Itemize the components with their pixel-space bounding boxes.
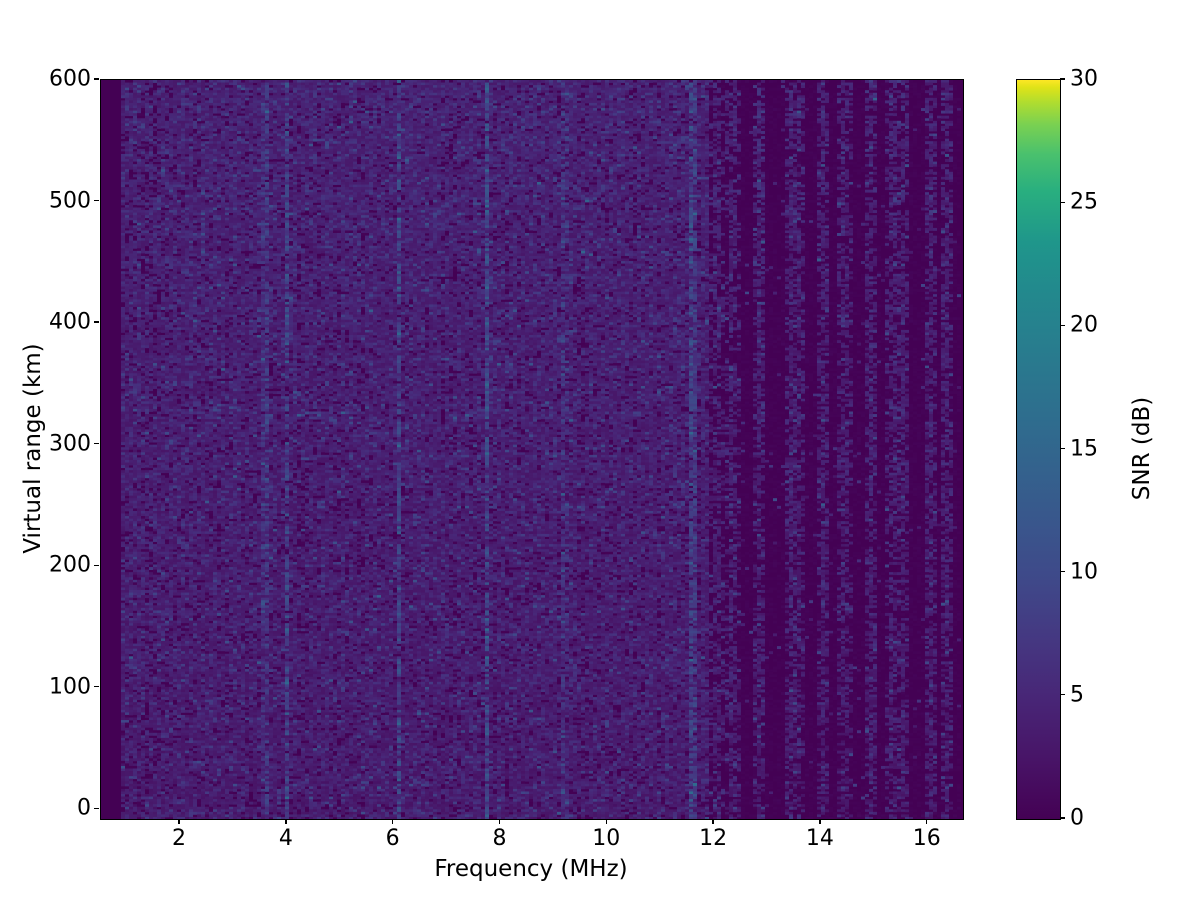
y-tick-mark [94, 808, 99, 809]
x-tick-mark [499, 819, 500, 824]
y-tick-mark [94, 565, 99, 566]
x-tick-label: 10 [592, 826, 620, 851]
x-tick-label: 8 [492, 826, 506, 851]
x-tick-mark [926, 819, 927, 824]
y-tick-label: 100 [49, 674, 91, 699]
colorbar-gradient [1017, 80, 1060, 819]
x-axis-label: Frequency (MHz) [100, 856, 962, 882]
colorbar-tick-mark [1060, 448, 1065, 449]
x-tick-label: 2 [172, 826, 186, 851]
y-tick-mark [94, 200, 99, 201]
y-tick-label: 500 [49, 188, 91, 213]
heatmap-plot-area [100, 79, 964, 820]
x-tick-label: 4 [279, 826, 293, 851]
colorbar-tick-label: 20 [1070, 313, 1098, 338]
x-tick-label: 14 [806, 826, 834, 851]
colorbar-tick-label: 10 [1070, 559, 1098, 584]
x-tick-label: 16 [913, 826, 941, 851]
colorbar-tick-mark [1060, 694, 1065, 695]
colorbar [1016, 79, 1061, 820]
y-tick-label: 0 [77, 796, 91, 821]
x-tick-label: 6 [386, 826, 400, 851]
colorbar-tick-label: 0 [1070, 806, 1084, 831]
y-tick-label: 600 [49, 67, 91, 92]
colorbar-tick-mark [1060, 817, 1065, 818]
y-tick-label: 400 [49, 310, 91, 335]
x-tick-mark [606, 819, 607, 824]
y-tick-label: 200 [49, 553, 91, 578]
y-axis-label: Virtual range (km) [18, 79, 48, 818]
y-tick-mark [94, 78, 99, 79]
y-tick-mark [94, 686, 99, 687]
colorbar-tick-label: 5 [1070, 682, 1084, 707]
x-tick-label: 12 [699, 826, 727, 851]
heatmap-canvas [101, 80, 963, 819]
colorbar-tick-mark [1060, 202, 1065, 203]
y-tick-mark [94, 321, 99, 322]
y-tick-mark [94, 443, 99, 444]
x-tick-mark [819, 819, 820, 824]
x-tick-mark [285, 819, 286, 824]
colorbar-label: SNR (dB) [1128, 79, 1156, 818]
x-tick-mark [712, 819, 713, 824]
colorbar-tick-label: 15 [1070, 436, 1098, 461]
colorbar-tick-label: 25 [1070, 190, 1098, 215]
y-tick-label: 300 [49, 431, 91, 456]
colorbar-tick-mark [1060, 325, 1065, 326]
x-tick-mark [178, 819, 179, 824]
ionogram-figure: IRF Kiruna Ionosonde KI167 2025-12-08 11… [0, 0, 1200, 900]
colorbar-tick-label: 30 [1070, 67, 1098, 92]
colorbar-tick-mark [1060, 78, 1065, 79]
colorbar-tick-mark [1060, 571, 1065, 572]
x-tick-mark [392, 819, 393, 824]
